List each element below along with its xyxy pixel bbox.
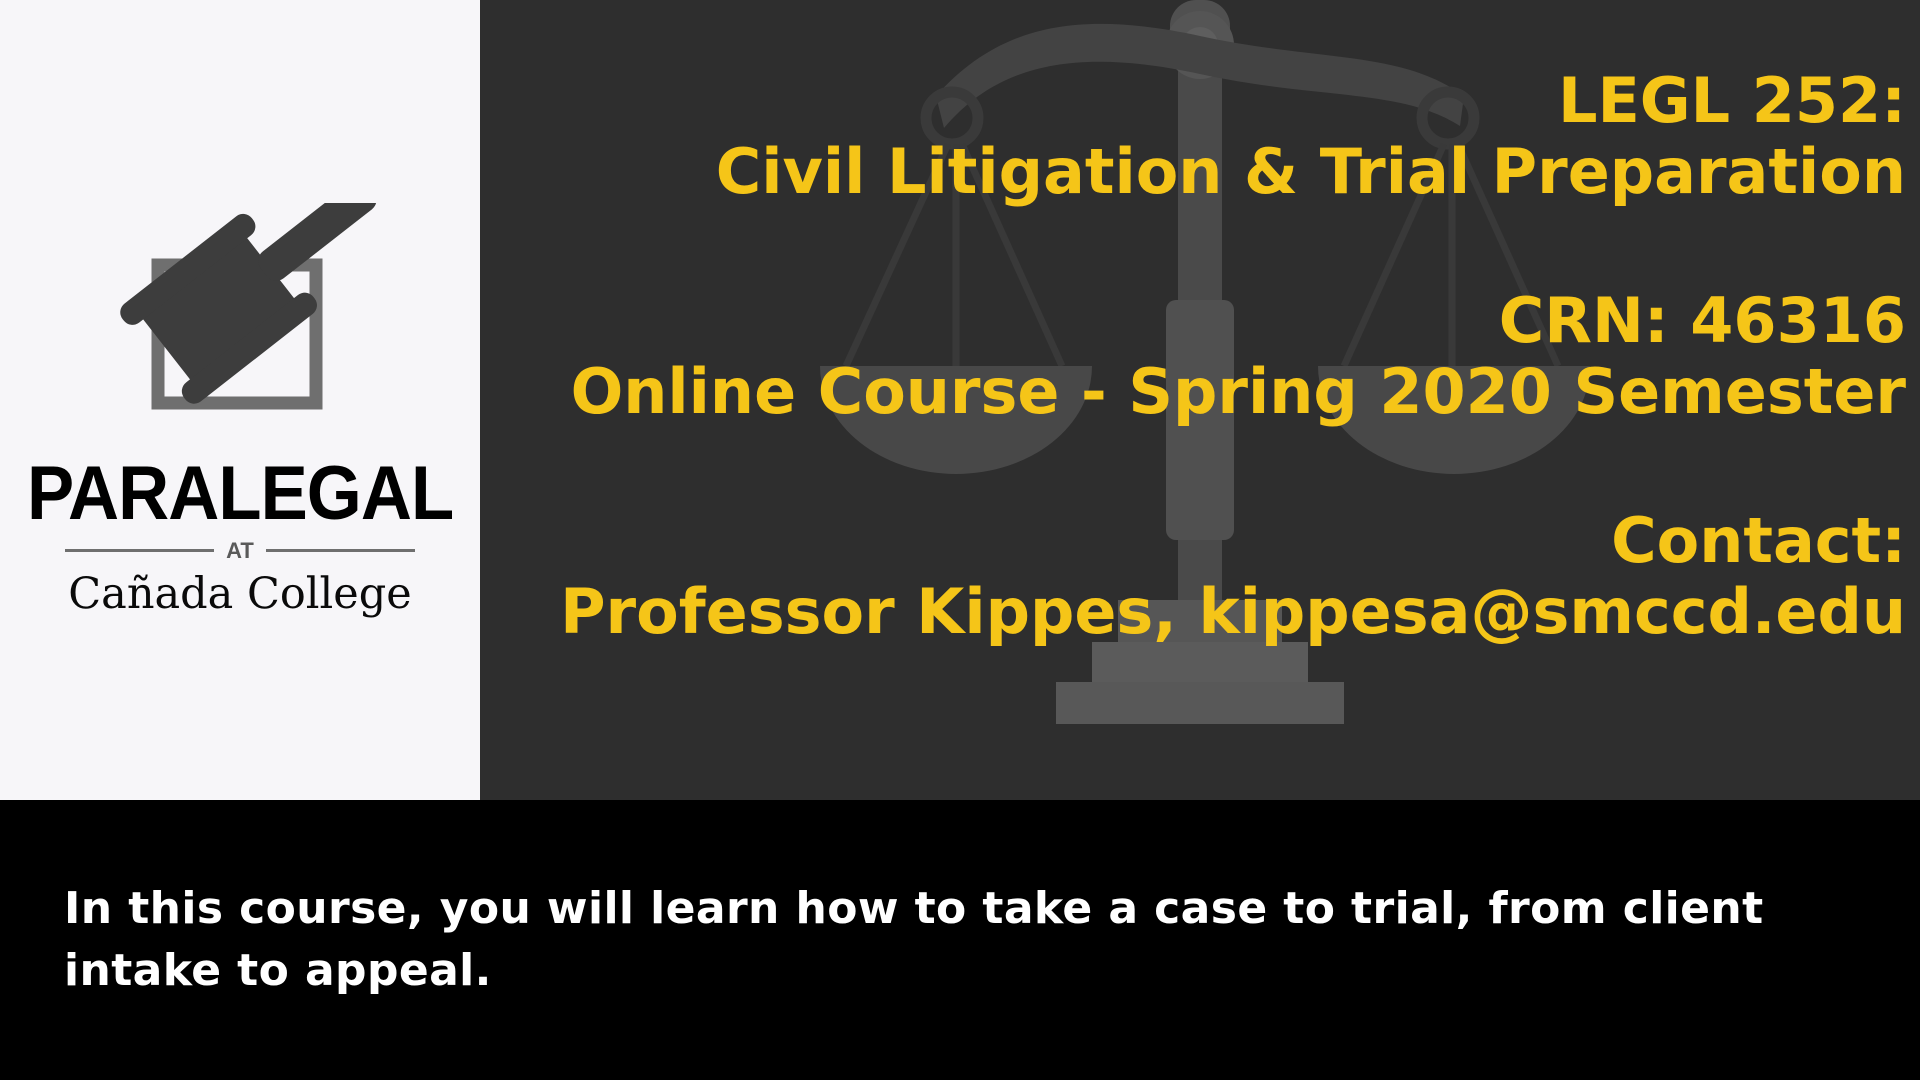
course-description-text: In this course, you will learn how to ta… — [64, 878, 1824, 1003]
description-bar: In this course, you will learn how to ta… — [0, 800, 1920, 1080]
gavel-and-document-icon — [90, 203, 390, 453]
instructor-contact-label[interactable]: Professor Kippes, kippesa@smccd.edu — [480, 579, 1906, 646]
course-code-label: LEGL 252: — [480, 68, 1906, 135]
logo-institution-name: Cañada College — [68, 572, 411, 617]
course-promo-poster: PARALEGAL AT Cañada College — [0, 0, 1920, 1080]
logo-connector-label: AT — [214, 538, 266, 564]
logo-at-divider: AT — [65, 538, 415, 564]
course-term-label: Online Course - Spring 2020 Semester — [480, 359, 1906, 426]
divider-rule-right — [266, 549, 415, 552]
course-info-panel: LEGL 252: Civil Litigation & Trial Prepa… — [480, 0, 1920, 800]
poster-top-area: PARALEGAL AT Cañada College — [0, 0, 1920, 800]
logo-wordmark: PARALEGAL — [27, 459, 453, 529]
paralegal-logo-panel: PARALEGAL AT Cañada College — [0, 0, 480, 800]
divider-rule-left — [65, 549, 214, 552]
course-title: Civil Litigation & Trial Preparation — [480, 139, 1906, 206]
course-text-stack: LEGL 252: Civil Litigation & Trial Prepa… — [480, 0, 1920, 800]
contact-heading: Contact: — [480, 508, 1906, 575]
logo-lockup: PARALEGAL AT Cañada College — [55, 203, 425, 617]
course-crn-label: CRN: 46316 — [480, 288, 1906, 355]
